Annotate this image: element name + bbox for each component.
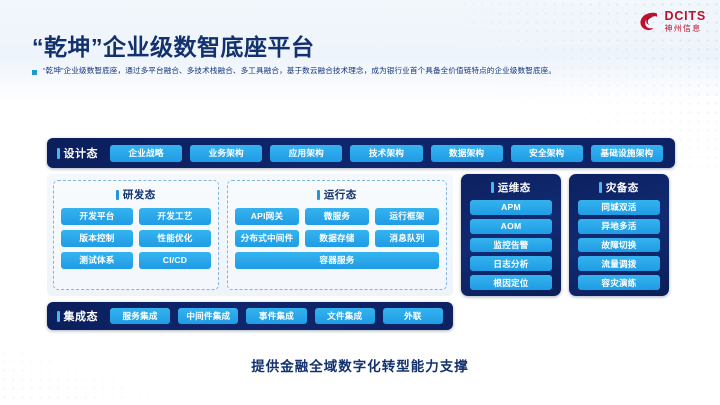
integration-layer-title: 集成态 (47, 308, 110, 324)
run-box-title: 运行态 (235, 187, 439, 202)
chip-dr-1[interactable]: 异地多活 (578, 219, 660, 234)
rd-box-title: 研发态 (61, 187, 211, 202)
chip-ops-3[interactable]: 日志分析 (470, 256, 552, 271)
tick-marker-icon (599, 182, 602, 193)
chip-dr-3[interactable]: 流量调拨 (578, 256, 660, 271)
run-chip-grid: API网关 微服务 运行框架 分布式中间件 数据存储 消息队列 容器服务 (235, 208, 439, 282)
rd-row-1: 版本控制 性能优化 (61, 230, 211, 247)
dr-chip-list: 同城双活 异地多活 故障切换 流量调拨 容灾演练 (578, 200, 660, 290)
tick-marker-icon (57, 311, 60, 322)
chip-ops-1[interactable]: AOM (470, 219, 552, 234)
dev-run-panel: 研发态 开发平台 开发工艺 版本控制 性能优化 测试体系 (47, 174, 453, 296)
chip-integration-0[interactable]: 服务集成 (110, 308, 170, 324)
chip-design-6[interactable]: 基础设施架构 (591, 145, 663, 162)
rd-chip-grid: 开发平台 开发工艺 版本控制 性能优化 测试体系 CI/CD (61, 208, 211, 282)
chip-design-4[interactable]: 数据架构 (431, 145, 503, 162)
chip-design-0[interactable]: 企业战略 (110, 145, 182, 162)
middle-zone: 研发态 开发平台 开发工艺 版本控制 性能优化 测试体系 (47, 174, 675, 296)
chip-design-3[interactable]: 技术架构 (350, 145, 422, 162)
slide-canvas: DCITS 神州信息 “乾坤”企业级数智底座平台 “乾坤”企业级数智底座，通过多… (0, 0, 720, 405)
logo-text-cn: 神州信息 (665, 25, 707, 33)
design-layer-label: 设计态 (64, 145, 99, 161)
chip-dr-2[interactable]: 故障切换 (578, 238, 660, 253)
chip-ops-4[interactable]: 根因定位 (470, 275, 552, 290)
run-box: 运行态 API网关 微服务 运行框架 分布式中间件 数据存储 消息队列 (227, 180, 447, 290)
chip-integration-4[interactable]: 外联 (383, 308, 443, 324)
chip-rd-0-0[interactable]: 开发平台 (61, 208, 133, 225)
architecture-diagram: 设计态 企业战略 业务架构 应用架构 技术架构 数据架构 安全架构 基础设施架构… (47, 138, 675, 340)
disaster-recovery-column: 灾备态 同城双活 异地多活 故障切换 流量调拨 容灾演练 (569, 174, 669, 296)
tick-marker-icon (116, 190, 119, 200)
chip-integration-1[interactable]: 中间件集成 (178, 308, 238, 324)
chip-run-1-0[interactable]: 分布式中间件 (235, 230, 299, 247)
ops-chip-list: APM AOM 监控告警 日志分析 根因定位 (470, 200, 552, 290)
page-title: “乾坤”企业级数智底座平台 (32, 28, 315, 62)
chip-run-1-1[interactable]: 数据存储 (305, 230, 369, 247)
chip-ops-0[interactable]: APM (470, 200, 552, 215)
design-layer-row[interactable]: 设计态 企业战略 业务架构 应用架构 技术架构 数据架构 安全架构 基础设施架构 (47, 138, 675, 168)
run-row-0: API网关 微服务 运行框架 (235, 208, 439, 225)
integration-layer-label: 集成态 (64, 308, 99, 324)
design-layer-chips: 企业战略 业务架构 应用架构 技术架构 数据架构 安全架构 基础设施架构 (110, 145, 663, 162)
chip-design-1[interactable]: 业务架构 (190, 145, 262, 162)
tick-marker-icon (57, 148, 60, 159)
chip-run-0-2[interactable]: 运行框架 (375, 208, 439, 225)
ops-column-label: 运维态 (498, 180, 531, 195)
tick-marker-icon (491, 182, 494, 193)
footer-tagline: 提供金融全域数字化转型能力支撑 (0, 355, 720, 375)
rd-box-label: 研发态 (123, 187, 156, 202)
design-layer-title: 设计态 (47, 145, 110, 161)
chip-dr-4[interactable]: 容灾演练 (578, 275, 660, 290)
ops-column-title: 运维态 (470, 180, 552, 195)
integration-layer-row[interactable]: 集成态 服务集成 中间件集成 事件集成 文件集成 外联 (47, 302, 453, 330)
chip-rd-1-1[interactable]: 性能优化 (139, 230, 211, 247)
chip-design-5[interactable]: 安全架构 (511, 145, 583, 162)
dr-column-title: 灾备态 (578, 180, 660, 195)
subtitle-row: “乾坤”企业级数智底座，通过多平台融合、多技术栈融合、多工具融合，基于数云融合技… (32, 66, 556, 77)
brand-logo: DCITS 神州信息 (638, 10, 707, 33)
swirl-logo-icon (638, 10, 661, 33)
dr-column-label: 灾备态 (606, 180, 639, 195)
run-row-1: 分布式中间件 数据存储 消息队列 (235, 230, 439, 247)
chip-rd-2-0[interactable]: 测试体系 (61, 252, 133, 269)
page-subtitle: “乾坤”企业级数智底座，通过多平台融合、多技术栈融合、多工具融合，基于数云融合技… (43, 66, 556, 77)
chip-dr-0[interactable]: 同城双活 (578, 200, 660, 215)
run-box-label: 运行态 (324, 187, 357, 202)
tick-marker-icon (317, 190, 320, 200)
ops-column: 运维态 APM AOM 监控告警 日志分析 根因定位 (461, 174, 561, 296)
chip-rd-2-1[interactable]: CI/CD (139, 252, 211, 269)
chip-run-2-0[interactable]: 容器服务 (235, 252, 439, 269)
run-row-2: 容器服务 (235, 252, 439, 269)
rd-box: 研发态 开发平台 开发工艺 版本控制 性能优化 测试体系 (53, 180, 219, 290)
logo-text-en: DCITS (665, 10, 707, 23)
chip-ops-2[interactable]: 监控告警 (470, 238, 552, 253)
chip-run-0-1[interactable]: 微服务 (305, 208, 369, 225)
integration-layer-chips: 服务集成 中间件集成 事件集成 文件集成 外联 (110, 308, 443, 324)
rd-row-2: 测试体系 CI/CD (61, 252, 211, 269)
chip-integration-2[interactable]: 事件集成 (246, 308, 306, 324)
chip-run-1-2[interactable]: 消息队列 (375, 230, 439, 247)
chip-run-0-0[interactable]: API网关 (235, 208, 299, 225)
square-bullet-icon (32, 70, 37, 75)
chip-rd-1-0[interactable]: 版本控制 (61, 230, 133, 247)
rd-row-0: 开发平台 开发工艺 (61, 208, 211, 225)
chip-integration-3[interactable]: 文件集成 (315, 308, 375, 324)
chip-design-2[interactable]: 应用架构 (270, 145, 342, 162)
chip-rd-0-1[interactable]: 开发工艺 (139, 208, 211, 225)
